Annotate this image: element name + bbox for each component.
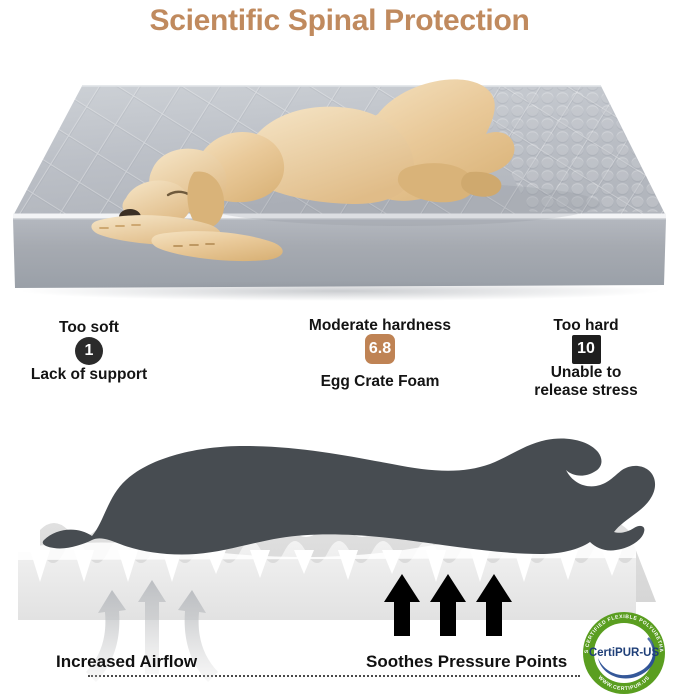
scale-marker-row-moderate: 6.8 (274, 334, 486, 364)
scale-bottom-label-unable-to: Unable to (497, 364, 675, 381)
scale-marker-too-soft: 1 (75, 337, 103, 365)
scale-marker-moderate: 6.8 (365, 334, 395, 364)
scale-bottom-label-egg-crate-foam: Egg Crate Foam (274, 373, 486, 390)
scale-top-label-too-soft: Too soft (8, 320, 170, 336)
certipur-us-badge: CertiPUR-US ® CONTAINS CERTIFIED FLEXIBL… (578, 608, 672, 696)
pet-bed-with-dog-illustration (0, 52, 679, 314)
caption-soothes-pressure-points: Soothes Pressure Points (366, 652, 567, 672)
scale-stop-too-hard: Too hard 10 Unable to release stress (497, 318, 675, 399)
scale-stop-moderate: Moderate hardness 6.8 Egg Crate Foam (274, 318, 486, 391)
hardness-scale: Too soft 1 Lack of support Moderate hard… (0, 316, 679, 422)
pressure-point-arrows (384, 574, 512, 636)
scale-top-label-moderate-hardness: Moderate hardness (274, 318, 486, 334)
scale-marker-row-too-soft: 1 (8, 336, 170, 366)
scale-marker-too-hard: 10 (572, 335, 601, 364)
caption-increased-airflow: Increased Airflow (56, 652, 197, 672)
scale-bottom-label-release-stress: release stress (497, 382, 675, 399)
scale-stop-too-soft: Too soft 1 Lack of support (8, 320, 170, 384)
badge-wordmark: CertiPUR-US (589, 647, 660, 659)
scale-top-label-too-hard: Too hard (497, 318, 675, 334)
scale-bottom-label-lack-of-support: Lack of support (8, 366, 170, 383)
scale-marker-row-too-hard: 10 (497, 334, 675, 364)
hero-product-photo (0, 52, 679, 314)
page-title: Scientific Spinal Protection (0, 4, 679, 38)
